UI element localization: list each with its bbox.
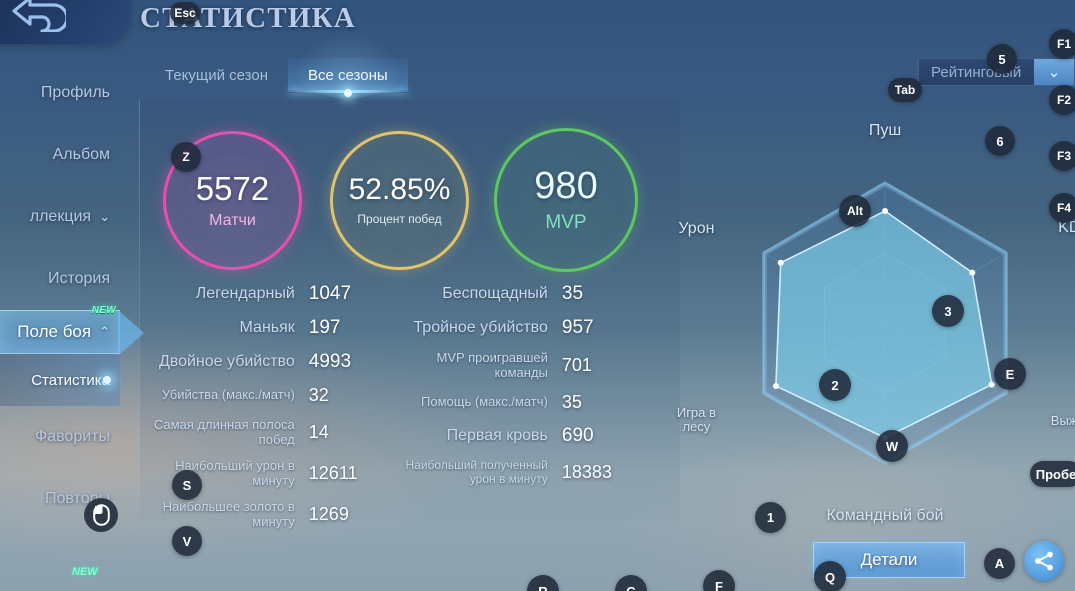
stat-row: Легендарный1047 — [148, 283, 373, 305]
sidebar-item-favorites[interactable]: Фавориты — [0, 406, 120, 468]
sidebar-item-favorites-label: Фавориты — [35, 428, 110, 446]
stat-row: Помощь (макс./матч)35 — [384, 392, 639, 413]
key-hint-f2: F2 — [1049, 85, 1075, 115]
stat-row-value: 35 — [562, 392, 639, 413]
details-button-label: Детали — [861, 550, 918, 570]
stat-circle-mvp-value: 980 — [534, 167, 597, 205]
active-indicator-dot — [103, 376, 111, 384]
stat-row-value: 4993 — [309, 351, 373, 373]
stat-row-label: Убийства (макс./матч) — [148, 388, 295, 403]
stat-row: Двойное убийство4993 — [148, 351, 373, 373]
sidebar: Профиль Альбом ллекция ⌄ История NEW Пол… — [0, 62, 120, 530]
tab-active-dot — [344, 89, 352, 97]
stat-row: Убийства (макс./матч)32 — [148, 385, 373, 406]
stat-row-value: 14 — [309, 422, 373, 443]
key-hint-a: A — [984, 548, 1015, 579]
sidebar-item-history[interactable]: История — [0, 248, 120, 310]
stat-row-label: MVP проигравшей команды — [384, 351, 548, 380]
stat-circle-mvp: 980 MVP — [494, 128, 638, 272]
back-arrow-icon — [8, 0, 66, 32]
radar-vertex-4 — [773, 383, 779, 389]
key-hint-w: W — [876, 430, 908, 462]
stat-row: Наибольший полученный урон в минуту18383 — [384, 459, 639, 486]
stat-row-label: Маньяк — [148, 319, 295, 337]
radar-vertex-1 — [969, 270, 975, 276]
radar-vertex-2 — [989, 382, 995, 388]
stat-row: Наибольшее золото в минуту1269 — [148, 500, 373, 529]
sidebar-item-collection[interactable]: ллекция ⌄ — [0, 186, 120, 248]
stat-row-label: Самая длинная полоса побед — [148, 418, 295, 447]
share-icon — [1032, 549, 1056, 573]
sidebar-item-album[interactable]: Альбом — [0, 124, 120, 186]
tab-all-seasons[interactable]: Все сезоны — [288, 58, 408, 92]
key-hint-alt: Alt — [839, 195, 871, 227]
radar-axis-label-4: Игра в лесу — [665, 406, 727, 435]
key-hint-3: 3 — [932, 295, 964, 327]
sidebar-item-statistics[interactable]: Статистика — [0, 354, 120, 406]
stat-row-label: Наибольший полученный урон в минуту — [384, 459, 548, 486]
radar-axis-label-2: Выживание — [1043, 414, 1075, 428]
key-hint-q: Q — [814, 561, 846, 591]
sidebar-item-battlefield[interactable]: NEW Поле боя ⌃ — [0, 310, 120, 354]
stat-row-label: Легендарный — [148, 285, 295, 303]
chevron-down-icon: ⌄ — [99, 209, 110, 225]
sidebar-item-statistics-label: Статистика — [31, 372, 110, 389]
sidebar-item-profile[interactable]: Профиль — [0, 62, 120, 124]
stat-row: Тройное убийство957 — [384, 317, 639, 339]
stat-row-value: 1269 — [309, 504, 373, 525]
stat-row-value: 690 — [562, 425, 639, 447]
stat-row-label: Помощь (макс./матч) — [384, 395, 548, 410]
key-hint-5: 5 — [987, 44, 1017, 74]
sidebar-item-battlefield-label: Поле боя — [17, 322, 91, 342]
back-button[interactable] — [0, 0, 130, 44]
radar-axis-label-0: Пуш — [845, 122, 925, 140]
mouse-hint — [84, 498, 118, 532]
chevron-down-icon[interactable]: ⌄ — [1034, 59, 1074, 85]
stat-row-value: 32 — [309, 385, 373, 406]
sidebar-item-album-label: Альбом — [53, 146, 110, 164]
new-badge: NEW — [92, 305, 116, 316]
key-hint-f4: F4 — [1049, 193, 1075, 223]
stat-row-value: 35 — [562, 283, 639, 305]
chevron-up-icon: ⌃ — [99, 324, 110, 340]
stat-circle-mvp-label: MVP — [545, 212, 586, 234]
key-hint-v: V — [172, 526, 202, 556]
stat-row-value: 701 — [562, 355, 639, 376]
tab-all-seasons-label: Все сезоны — [308, 67, 388, 84]
stat-row-label: Двойное убийство — [148, 353, 295, 371]
key-hint-1: 1 — [755, 502, 786, 533]
key-hint-6: 6 — [985, 126, 1015, 156]
stat-row-label: Наибольший урон в минуту — [148, 459, 295, 488]
stat-row: MVP проигравшей команды701 — [384, 351, 639, 380]
stat-row-value: 12611 — [309, 463, 373, 484]
sidebar-item-collection-label: ллекция — [30, 208, 91, 226]
stat-circle-winrate: 52.85% Процент побед — [330, 131, 469, 270]
key-hint-esc: Esc — [170, 2, 200, 24]
stat-row: Самая длинная полоса побед14 — [148, 418, 373, 447]
stat-row: Маньяк197 — [148, 317, 373, 339]
stat-circle-matches-label: Матчи — [209, 212, 256, 230]
mouse-icon — [93, 504, 110, 526]
radar-vertex-0 — [882, 208, 888, 214]
new-badge-bottom: NEW — [72, 566, 98, 578]
stat-row-value: 197 — [309, 317, 373, 339]
key-hint-tab: Tab — [888, 78, 922, 102]
key-hint-e: E — [994, 358, 1026, 390]
stat-circle-winrate-value: 52.85% — [349, 175, 451, 205]
stat-row: Первая кровь690 — [384, 425, 639, 447]
radar-axis-label-5: Урон — [665, 220, 727, 238]
radar-axis-label-3: Командный бой — [817, 507, 953, 525]
stat-row-label: Первая кровь — [384, 427, 548, 445]
stat-row-label: Наибольшее золото в минуту — [148, 500, 295, 529]
key-hint-f3: F3 — [1049, 141, 1075, 171]
key-hint-s: S — [172, 470, 202, 500]
radar-vertex-5 — [778, 260, 784, 266]
stat-row-label: Беспощадный — [384, 285, 548, 303]
sidebar-item-profile-label: Профиль — [41, 84, 110, 102]
key-hint-f1: F1 — [1049, 29, 1075, 59]
stat-circle-winrate-label: Процент побед — [357, 212, 441, 226]
mode-selector-value: Рейтинговый — [919, 64, 1034, 81]
tab-current-season[interactable]: Текущий сезон — [145, 58, 288, 92]
key-hint-z: Z — [171, 142, 201, 172]
stats-column-right: Беспощадный35Тройное убийство957MVP прои… — [384, 283, 639, 498]
stat-circle-matches-value: 5572 — [196, 172, 269, 205]
stat-row-value: 18383 — [562, 462, 639, 483]
stat-row-value: 957 — [562, 317, 639, 339]
stats-column-left: Легендарный1047Маньяк197Двойное убийство… — [148, 283, 373, 541]
key-hint-пробе: Пробе — [1030, 461, 1075, 487]
stat-row-value: 1047 — [309, 283, 373, 305]
key-hint-2: 2 — [819, 369, 851, 401]
season-tabs: Текущий сезон Все сезоны — [145, 58, 408, 92]
stat-row-label: Тройное убийство — [384, 319, 548, 337]
share-button[interactable] — [1024, 541, 1064, 581]
tab-current-season-label: Текущий сезон — [165, 67, 268, 84]
sidebar-item-history-label: История — [48, 270, 110, 288]
stat-row: Беспощадный35 — [384, 283, 639, 305]
